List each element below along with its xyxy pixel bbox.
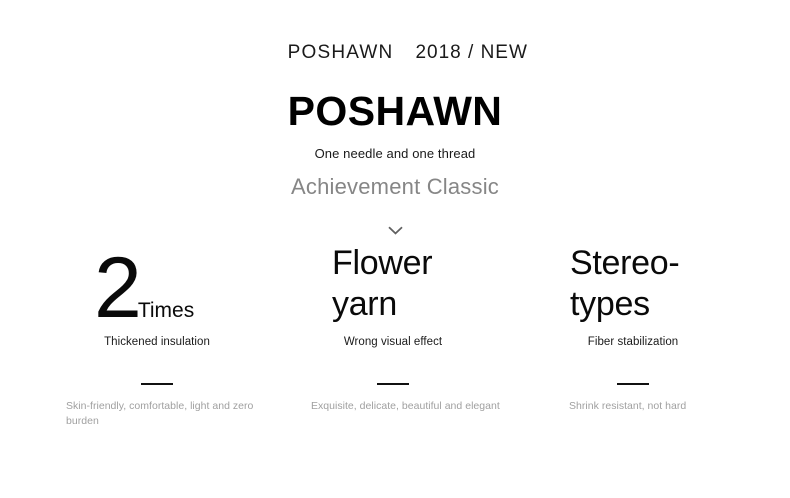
feature-headline-text-3: Stereo- types: [570, 238, 679, 323]
feature-divider-wrap-3: [515, 372, 751, 375]
feature-caption-1: Skin-friendly, comfortable, light and ze…: [39, 399, 275, 429]
brand-eyebrow: POSHAWN2018 / NEW: [0, 22, 790, 85]
metric-unit: Times: [138, 299, 194, 322]
feature-sublabel-2: Wrong visual effect: [275, 336, 511, 350]
feature-row: 2Times Thickened insulation Skin-friendl…: [0, 243, 790, 443]
feature-column-3: Stereo- types Fiber stabilization Shrink…: [515, 243, 751, 443]
metric-line: 2Times: [94, 243, 275, 331]
brand-eyebrow-year: 2018 / NEW: [415, 42, 527, 63]
feature-headline-3: Stereo- types: [515, 243, 751, 331]
feature-headline-text-2: Flower yarn: [332, 238, 432, 323]
feature-headline-1: 2Times: [39, 243, 275, 331]
feature-column-2: Flower yarn Wrong visual effect Exquisit…: [275, 243, 511, 443]
feature-headline-2: Flower yarn: [275, 243, 511, 331]
feature-divider-wrap-1: [39, 372, 275, 375]
brand-eyebrow-name: POSHAWN: [288, 42, 394, 63]
feature-caption-2: Exquisite, delicate, beautiful and elega…: [275, 399, 511, 414]
brand-subtagline: Achievement Classic: [0, 174, 790, 200]
feature-divider-wrap-2: [275, 372, 511, 375]
brand-header: POSHAWN2018 / NEW POSHAWN One needle and…: [0, 0, 790, 201]
feature-sublabel-1: Thickened insulation: [39, 336, 275, 350]
brand-wordmark: POSHAWN: [0, 89, 790, 135]
brand-tagline: One needle and one thread: [0, 146, 790, 162]
feature-caption-3: Shrink resistant, not hard: [515, 399, 751, 414]
feature-sublabel-3: Fiber stabilization: [515, 336, 751, 350]
feature-divider-1: [141, 383, 173, 385]
feature-column-1: 2Times Thickened insulation Skin-friendl…: [39, 243, 275, 443]
feature-divider-2: [377, 383, 409, 385]
chevron-down-icon[interactable]: [388, 226, 403, 236]
feature-divider-3: [617, 383, 649, 385]
metric-value: 2: [94, 240, 140, 336]
